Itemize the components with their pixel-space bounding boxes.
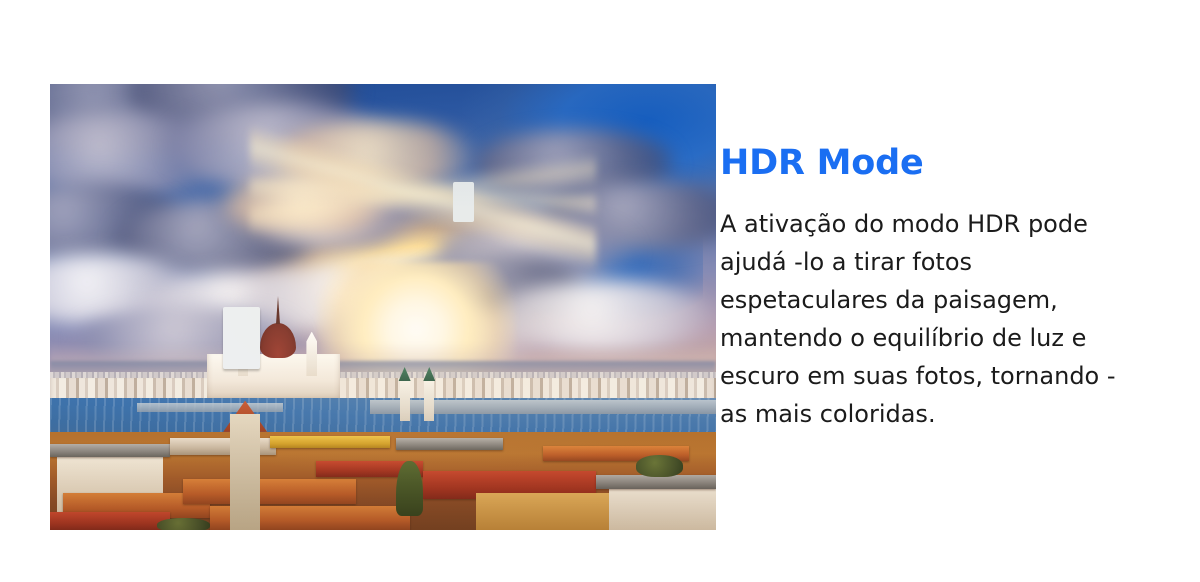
parliament-spire — [276, 296, 280, 324]
hdr-mode-promo-panel: HDR Mode A ativação do modo HDR pode aju… — [0, 0, 1200, 582]
foreground-city-rooftops — [50, 432, 716, 530]
church-twin-tower-right — [424, 381, 434, 421]
fishermans-bastion-tower — [230, 414, 261, 530]
description-paragraph: A ativação do modo HDR pode ajudá -lo a … — [720, 183, 1132, 433]
page-title: HDR Mode — [720, 143, 1140, 183]
tree-2 — [157, 518, 210, 530]
rooftop-cluster — [50, 432, 716, 530]
building-wall-2 — [476, 493, 609, 530]
cypress-tree — [396, 461, 423, 516]
building-wall-3 — [609, 487, 716, 530]
roof-orange-2 — [183, 479, 356, 505]
roof-grey-3 — [596, 475, 716, 489]
hdr-sample-photo — [50, 84, 716, 530]
roof-grey-1 — [50, 444, 170, 458]
river-boat-2 — [453, 182, 474, 222]
river-boat-1 — [223, 307, 260, 369]
danube-bridge-left — [137, 403, 284, 412]
danube-bridge-right — [370, 400, 716, 414]
roof-yellow-1 — [270, 436, 390, 448]
tree-1 — [636, 455, 683, 477]
roof-red-3 — [50, 512, 170, 530]
roof-grey-2 — [396, 438, 503, 450]
copy-block: HDR Mode A ativação do modo HDR pode aju… — [720, 143, 1140, 433]
roof-pale-1 — [170, 438, 277, 456]
church-twin-tower-left — [400, 381, 410, 421]
photo-scene — [50, 84, 716, 530]
